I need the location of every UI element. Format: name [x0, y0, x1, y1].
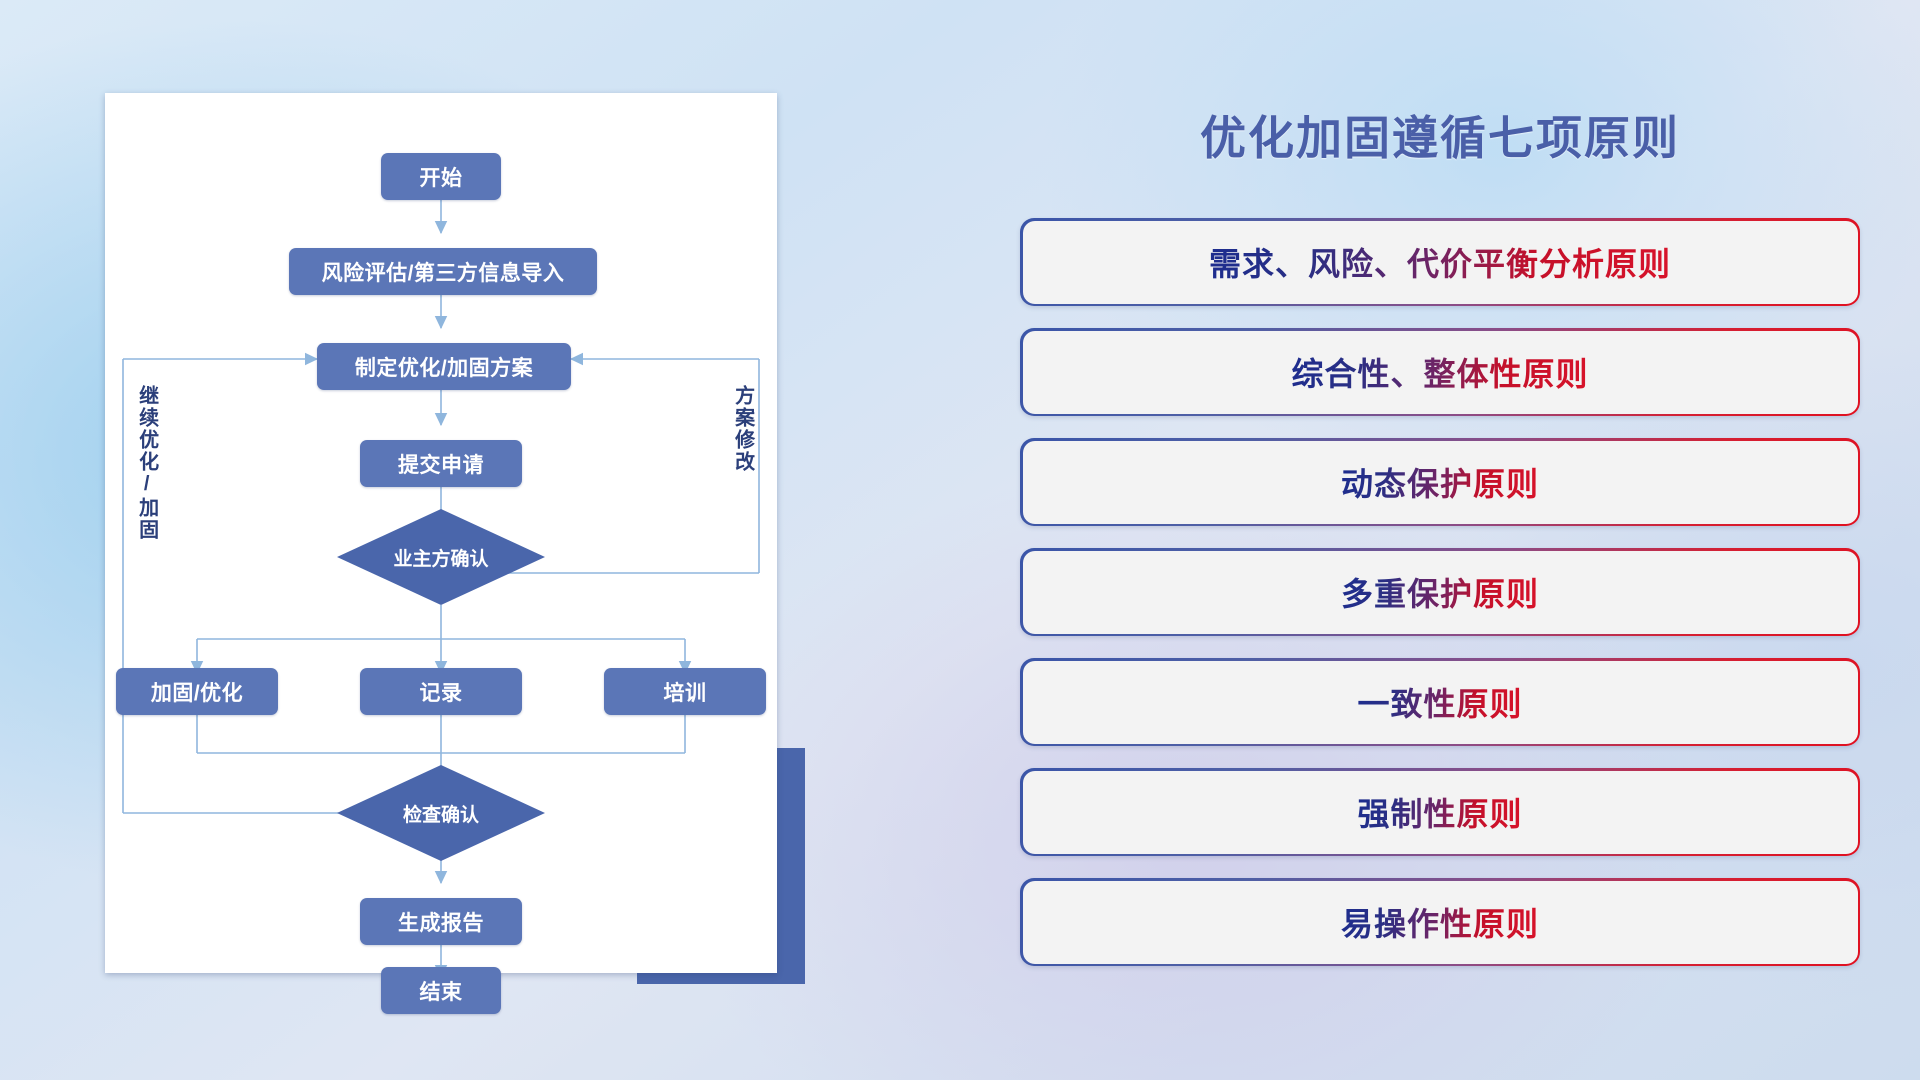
flowchart-canvas: 开始 风险评估/第三方信息导入 制定优化/加固方案 提交申请 业主方确认 加固/… — [105, 93, 777, 973]
principle-card-2[interactable]: 综合性、整体性原则 — [1020, 328, 1860, 416]
flow-node-record[interactable]: 记录 — [360, 668, 522, 715]
principle-label: 需求、风险、代价平衡分析原则 — [1209, 239, 1671, 285]
flow-node-risk-assessment[interactable]: 风险评估/第三方信息导入 — [289, 248, 597, 295]
principle-card-4[interactable]: 多重保护原则 — [1020, 548, 1860, 636]
principle-card-7[interactable]: 易操作性原则 — [1020, 878, 1860, 966]
flow-node-label: 风险评估/第三方信息导入 — [322, 257, 565, 287]
flow-node-start[interactable]: 开始 — [381, 153, 501, 200]
flow-node-check-confirmation[interactable]: 检查确认 — [337, 765, 545, 861]
principles-panel: 优化加固遵循七项原则 需求、风险、代价平衡分析原则 综合性、整体性原则 动态保护… — [1020, 70, 1860, 1030]
principle-label: 动态保护原则 — [1341, 459, 1539, 505]
principle-card-inner: 易操作性原则 — [1023, 881, 1858, 964]
principle-card-inner: 综合性、整体性原则 — [1023, 331, 1858, 414]
principle-card-1[interactable]: 需求、风险、代价平衡分析原则 — [1020, 218, 1860, 306]
flow-node-label: 生成报告 — [398, 907, 484, 937]
flow-node-training[interactable]: 培训 — [604, 668, 766, 715]
flow-node-label: 检查确认 — [403, 800, 479, 827]
principle-card-inner: 动态保护原则 — [1023, 441, 1858, 524]
flow-node-submit-application[interactable]: 提交申请 — [360, 440, 522, 487]
flow-edge-label-continue-optimize: 继续优化/加固 — [135, 385, 157, 541]
principle-card-3[interactable]: 动态保护原则 — [1020, 438, 1860, 526]
flow-node-reinforce-optimize[interactable]: 加固/优化 — [116, 668, 278, 715]
flow-node-generate-report[interactable]: 生成报告 — [360, 898, 522, 945]
principle-label: 多重保护原则 — [1341, 569, 1539, 615]
principle-card-inner: 强制性原则 — [1023, 771, 1858, 854]
flowchart-panel: 开始 风险评估/第三方信息导入 制定优化/加固方案 提交申请 业主方确认 加固/… — [105, 93, 777, 973]
flow-node-label: 结束 — [420, 976, 463, 1006]
principle-card-inner: 一致性原则 — [1023, 661, 1858, 744]
flow-edge-label-plan-revision: 方案修改 — [731, 385, 753, 473]
flow-node-label: 业主方确认 — [393, 544, 488, 571]
flow-node-label: 培训 — [664, 677, 707, 707]
principle-card-6[interactable]: 强制性原则 — [1020, 768, 1860, 856]
flow-node-end[interactable]: 结束 — [381, 967, 501, 1014]
flow-node-label: 记录 — [420, 677, 463, 707]
flow-node-owner-confirmation[interactable]: 业主方确认 — [337, 509, 545, 605]
principles-title: 优化加固遵循七项原则 — [1020, 102, 1860, 168]
flow-node-label: 制定优化/加固方案 — [355, 352, 533, 382]
principle-card-5[interactable]: 一致性原则 — [1020, 658, 1860, 746]
principles-list: 需求、风险、代价平衡分析原则 综合性、整体性原则 动态保护原则 多重保护原则 一… — [1020, 218, 1860, 966]
principle-label: 易操作性原则 — [1341, 899, 1539, 945]
principle-card-inner: 多重保护原则 — [1023, 551, 1858, 634]
flow-node-plan[interactable]: 制定优化/加固方案 — [317, 343, 571, 390]
flow-node-label: 开始 — [420, 162, 463, 192]
flow-node-label: 提交申请 — [398, 449, 484, 479]
principle-label: 强制性原则 — [1357, 789, 1522, 835]
principle-label: 一致性原则 — [1357, 679, 1522, 725]
principle-label: 综合性、整体性原则 — [1291, 349, 1588, 395]
flow-node-label: 加固/优化 — [151, 677, 243, 707]
principle-card-inner: 需求、风险、代价平衡分析原则 — [1023, 221, 1858, 304]
